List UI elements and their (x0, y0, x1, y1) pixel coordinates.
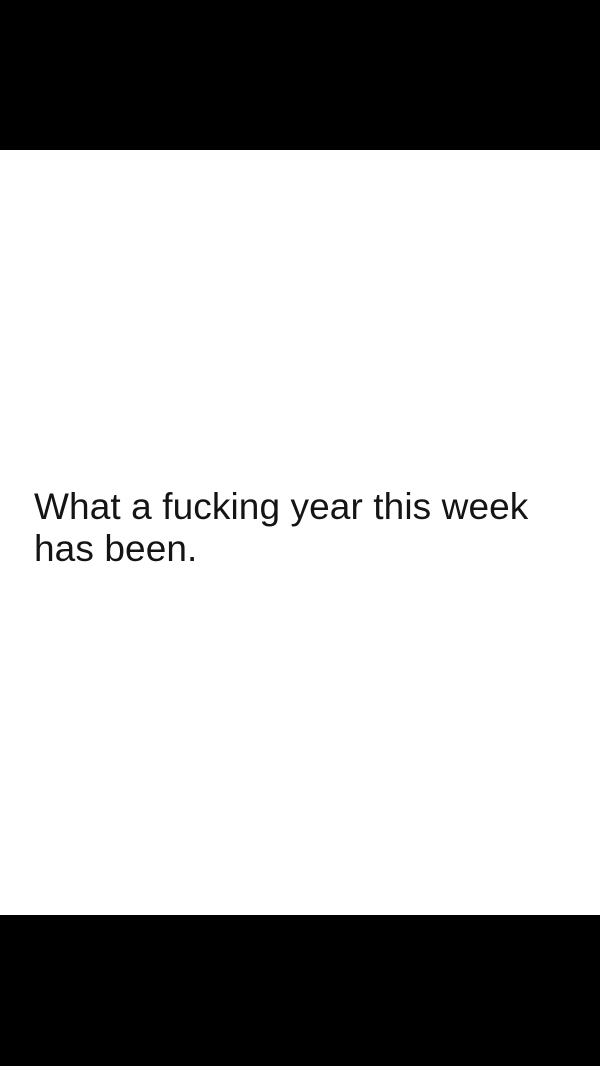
letterbox-top-bar (0, 0, 600, 150)
post-canvas: What a fucking year this week has been. (0, 150, 600, 915)
post-text-block: What a fucking year this week has been. (34, 486, 566, 570)
letterbox-bottom-bar (0, 915, 600, 1066)
screenshot-root: What a fucking year this week has been. (0, 0, 600, 1066)
post-text: What a fucking year this week has been. (34, 486, 566, 570)
